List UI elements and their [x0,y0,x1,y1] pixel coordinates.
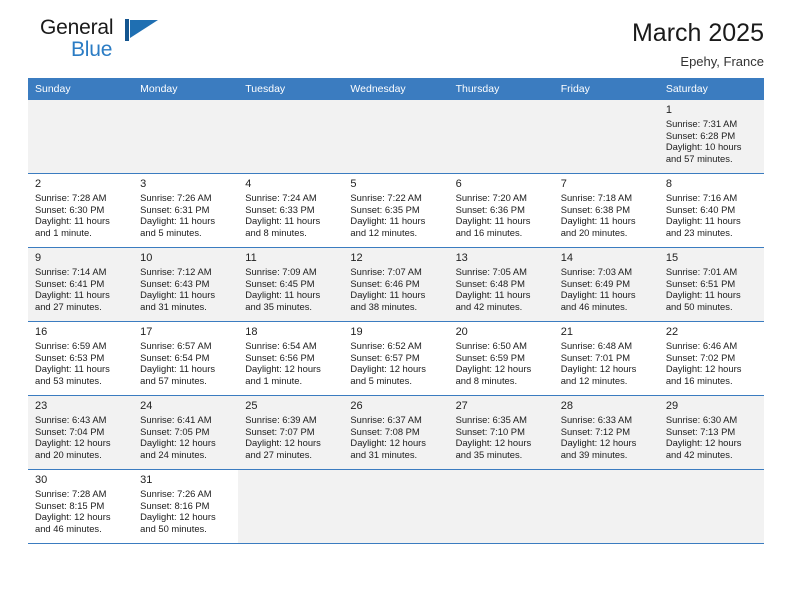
calendar-cell-empty [554,470,659,543]
calendar-day-cell[interactable]: 7Sunrise: 7:18 AMSunset: 6:38 PMDaylight… [554,174,659,247]
calendar-cell-empty [343,470,448,543]
calendar-cell-empty [238,100,343,173]
calendar-day-cell[interactable]: 24Sunrise: 6:41 AMSunset: 7:05 PMDayligh… [133,396,238,469]
sunset-text: Sunset: 8:16 PM [140,500,232,512]
weekday-header-monday: Monday [133,78,238,100]
daylight-text-line1: Daylight: 11 hours [245,215,337,227]
day-number: 3 [140,177,232,191]
weekday-header-wednesday: Wednesday [343,78,448,100]
daylight-text-line2: and 53 minutes. [35,375,127,387]
daylight-text-line1: Daylight: 12 hours [666,363,758,375]
calendar-cell-empty [343,100,448,173]
sunset-text: Sunset: 7:02 PM [666,352,758,364]
sunset-text: Sunset: 6:30 PM [35,204,127,216]
sunrise-text: Sunrise: 6:30 AM [666,414,758,426]
daylight-text-line1: Daylight: 11 hours [35,289,127,301]
sunrise-text: Sunrise: 7:05 AM [456,266,548,278]
weekday-header-tuesday: Tuesday [238,78,343,100]
calendar-week-row: 16Sunrise: 6:59 AMSunset: 6:53 PMDayligh… [28,322,764,396]
daylight-text-line2: and 1 minute. [245,375,337,387]
day-number: 14 [561,251,653,265]
sunrise-text: Sunrise: 6:50 AM [456,340,548,352]
day-number: 22 [666,325,758,339]
calendar-cell-empty [449,470,554,543]
sunset-text: Sunset: 6:49 PM [561,278,653,290]
calendar-week-row: 2Sunrise: 7:28 AMSunset: 6:30 PMDaylight… [28,174,764,248]
daylight-text-line2: and 16 minutes. [666,375,758,387]
sunrise-text: Sunrise: 6:52 AM [350,340,442,352]
daylight-text-line2: and 24 minutes. [140,449,232,461]
day-number: 27 [456,399,548,413]
daylight-text-line2: and 35 minutes. [245,301,337,313]
sunset-text: Sunset: 6:35 PM [350,204,442,216]
sunset-text: Sunset: 6:46 PM [350,278,442,290]
page-title: March 2025 [632,18,764,48]
sunset-text: Sunset: 6:38 PM [561,204,653,216]
sunrise-text: Sunrise: 7:14 AM [35,266,127,278]
sunset-text: Sunset: 6:33 PM [245,204,337,216]
sunset-text: Sunset: 7:12 PM [561,426,653,438]
daylight-text-line1: Daylight: 11 hours [35,215,127,227]
daylight-text-line1: Daylight: 12 hours [350,437,442,449]
day-number: 13 [456,251,548,265]
day-number: 4 [245,177,337,191]
daylight-text-line2: and 8 minutes. [456,375,548,387]
daylight-text-line1: Daylight: 11 hours [245,289,337,301]
calendar-week-row: 30Sunrise: 7:28 AMSunset: 8:15 PMDayligh… [28,470,764,544]
daylight-text-line2: and 5 minutes. [350,375,442,387]
day-number: 28 [561,399,653,413]
daylight-text-line1: Daylight: 11 hours [140,215,232,227]
calendar-body: 1Sunrise: 7:31 AMSunset: 6:28 PMDaylight… [28,100,764,544]
calendar-day-cell[interactable]: 30Sunrise: 7:28 AMSunset: 8:15 PMDayligh… [28,470,133,543]
sunrise-text: Sunrise: 7:16 AM [666,192,758,204]
location-subtitle: Epehy, France [632,52,764,72]
sunrise-text: Sunrise: 6:54 AM [245,340,337,352]
calendar-cell-empty [238,470,343,543]
daylight-text-line1: Daylight: 11 hours [456,215,548,227]
sunrise-text: Sunrise: 6:43 AM [35,414,127,426]
sunrise-text: Sunrise: 7:31 AM [666,118,758,130]
day-number: 19 [350,325,442,339]
daylight-text-line2: and 42 minutes. [666,449,758,461]
calendar-day-cell[interactable]: 9Sunrise: 7:14 AMSunset: 6:41 PMDaylight… [28,248,133,321]
daylight-text-line1: Daylight: 11 hours [561,215,653,227]
sunset-text: Sunset: 6:41 PM [35,278,127,290]
calendar-day-cell[interactable]: 2Sunrise: 7:28 AMSunset: 6:30 PMDaylight… [28,174,133,247]
sunrise-text: Sunrise: 6:57 AM [140,340,232,352]
calendar-day-cell[interactable]: 4Sunrise: 7:24 AMSunset: 6:33 PMDaylight… [238,174,343,247]
calendar-day-cell[interactable]: 27Sunrise: 6:35 AMSunset: 7:10 PMDayligh… [449,396,554,469]
calendar-day-cell[interactable]: 16Sunrise: 6:59 AMSunset: 6:53 PMDayligh… [28,322,133,395]
daylight-text-line2: and 27 minutes. [245,449,337,461]
sunrise-text: Sunrise: 6:48 AM [561,340,653,352]
weekday-header-saturday: Saturday [659,78,764,100]
calendar-week-row: 23Sunrise: 6:43 AMSunset: 7:04 PMDayligh… [28,396,764,470]
sunset-text: Sunset: 6:53 PM [35,352,127,364]
title-block: March 2025 Epehy, France [632,16,764,72]
sunrise-text: Sunrise: 7:07 AM [350,266,442,278]
daylight-text-line2: and 50 minutes. [140,523,232,535]
daylight-text-line2: and 12 minutes. [561,375,653,387]
day-number: 23 [35,399,127,413]
calendar-day-cell[interactable]: 26Sunrise: 6:37 AMSunset: 7:08 PMDayligh… [343,396,448,469]
calendar-cell-empty [133,100,238,173]
day-number: 6 [456,177,548,191]
sunset-text: Sunset: 7:07 PM [245,426,337,438]
day-number: 29 [666,399,758,413]
day-number: 15 [666,251,758,265]
sunset-text: Sunset: 6:31 PM [140,204,232,216]
sunrise-text: Sunrise: 7:20 AM [456,192,548,204]
daylight-text-line2: and 12 minutes. [350,227,442,239]
daylight-text-line2: and 1 minute. [35,227,127,239]
daylight-text-line2: and 31 minutes. [140,301,232,313]
sunrise-text: Sunrise: 6:59 AM [35,340,127,352]
sunrise-text: Sunrise: 6:46 AM [666,340,758,352]
sunset-text: Sunset: 8:15 PM [35,500,127,512]
calendar-cell-empty [449,100,554,173]
sunrise-text: Sunrise: 7:26 AM [140,192,232,204]
weekday-header-sunday: Sunday [28,78,133,100]
daylight-text-line1: Daylight: 11 hours [350,215,442,227]
calendar-day-cell[interactable]: 12Sunrise: 7:07 AMSunset: 6:46 PMDayligh… [343,248,448,321]
brand-name-bottom: Blue [40,39,198,61]
daylight-text-line1: Daylight: 11 hours [140,289,232,301]
calendar-page: General Blue March 2025 Epehy, France Su… [0,0,792,612]
day-number: 10 [140,251,232,265]
sunrise-text: Sunrise: 7:28 AM [35,192,127,204]
sunset-text: Sunset: 6:40 PM [666,204,758,216]
calendar-day-cell[interactable]: 13Sunrise: 7:05 AMSunset: 6:48 PMDayligh… [449,248,554,321]
weekday-header-row: Sunday Monday Tuesday Wednesday Thursday… [28,78,764,100]
brand-name-top: General [40,16,198,39]
day-number: 17 [140,325,232,339]
calendar-day-cell[interactable]: 15Sunrise: 7:01 AMSunset: 6:51 PMDayligh… [659,248,764,321]
calendar-day-cell[interactable]: 5Sunrise: 7:22 AMSunset: 6:35 PMDaylight… [343,174,448,247]
sunset-text: Sunset: 7:05 PM [140,426,232,438]
sunrise-text: Sunrise: 7:18 AM [561,192,653,204]
calendar-day-cell[interactable]: 14Sunrise: 7:03 AMSunset: 6:49 PMDayligh… [554,248,659,321]
daylight-text-line1: Daylight: 12 hours [666,437,758,449]
day-number: 12 [350,251,442,265]
day-number: 31 [140,473,232,487]
sunset-text: Sunset: 7:01 PM [561,352,653,364]
daylight-text-line2: and 35 minutes. [456,449,548,461]
calendar-day-cell[interactable]: 25Sunrise: 6:39 AMSunset: 7:07 PMDayligh… [238,396,343,469]
daylight-text-line1: Daylight: 12 hours [456,437,548,449]
sunset-text: Sunset: 6:59 PM [456,352,548,364]
daylight-text-line2: and 8 minutes. [245,227,337,239]
sunset-text: Sunset: 7:13 PM [666,426,758,438]
daylight-text-line2: and 46 minutes. [561,301,653,313]
daylight-text-line2: and 57 minutes. [140,375,232,387]
calendar-day-cell[interactable]: 8Sunrise: 7:16 AMSunset: 6:40 PMDaylight… [659,174,764,247]
calendar-week-row: 1Sunrise: 7:31 AMSunset: 6:28 PMDaylight… [28,100,764,174]
day-number: 11 [245,251,337,265]
sunset-text: Sunset: 6:36 PM [456,204,548,216]
sunset-text: Sunset: 6:51 PM [666,278,758,290]
daylight-text-line1: Daylight: 12 hours [561,363,653,375]
daylight-text-line2: and 16 minutes. [456,227,548,239]
calendar-day-cell[interactable]: 19Sunrise: 6:52 AMSunset: 6:57 PMDayligh… [343,322,448,395]
day-number: 24 [140,399,232,413]
sunset-text: Sunset: 6:45 PM [245,278,337,290]
daylight-text-line1: Daylight: 12 hours [350,363,442,375]
page-header: General Blue March 2025 Epehy, France [28,0,764,78]
day-number: 26 [350,399,442,413]
calendar-day-cell[interactable]: 29Sunrise: 6:30 AMSunset: 7:13 PMDayligh… [659,396,764,469]
sunrise-text: Sunrise: 7:09 AM [245,266,337,278]
day-number: 2 [35,177,127,191]
daylight-text-line2: and 57 minutes. [666,153,758,165]
weekday-header-thursday: Thursday [449,78,554,100]
daylight-text-line2: and 20 minutes. [35,449,127,461]
sunrise-text: Sunrise: 6:35 AM [456,414,548,426]
sunrise-text: Sunrise: 6:37 AM [350,414,442,426]
day-number: 16 [35,325,127,339]
daylight-text-line2: and 20 minutes. [561,227,653,239]
calendar-day-cell[interactable]: 17Sunrise: 6:57 AMSunset: 6:54 PMDayligh… [133,322,238,395]
daylight-text-line2: and 42 minutes. [456,301,548,313]
daylight-text-line1: Daylight: 11 hours [666,289,758,301]
day-number: 1 [666,103,758,117]
daylight-text-line1: Daylight: 12 hours [35,437,127,449]
sunrise-text: Sunrise: 7:01 AM [666,266,758,278]
calendar-day-cell[interactable]: 1Sunrise: 7:31 AMSunset: 6:28 PMDaylight… [659,100,764,173]
calendar-day-cell[interactable]: 10Sunrise: 7:12 AMSunset: 6:43 PMDayligh… [133,248,238,321]
daylight-text-line1: Daylight: 11 hours [456,289,548,301]
sunset-text: Sunset: 6:57 PM [350,352,442,364]
day-number: 5 [350,177,442,191]
sunrise-text: Sunrise: 7:22 AM [350,192,442,204]
daylight-text-line1: Daylight: 12 hours [140,511,232,523]
daylight-text-line2: and 31 minutes. [350,449,442,461]
daylight-text-line1: Daylight: 11 hours [350,289,442,301]
calendar-day-cell[interactable]: 21Sunrise: 6:48 AMSunset: 7:01 PMDayligh… [554,322,659,395]
daylight-text-line2: and 38 minutes. [350,301,442,313]
daylight-text-line2: and 46 minutes. [35,523,127,535]
sunrise-text: Sunrise: 7:26 AM [140,488,232,500]
sunrise-text: Sunrise: 6:41 AM [140,414,232,426]
daylight-text-line1: Daylight: 12 hours [245,437,337,449]
sunrise-text: Sunrise: 6:33 AM [561,414,653,426]
calendar-day-cell[interactable]: 11Sunrise: 7:09 AMSunset: 6:45 PMDayligh… [238,248,343,321]
daylight-text-line1: Daylight: 12 hours [35,511,127,523]
sunrise-text: Sunrise: 7:28 AM [35,488,127,500]
day-number: 8 [666,177,758,191]
daylight-text-line2: and 27 minutes. [35,301,127,313]
daylight-text-line2: and 39 minutes. [561,449,653,461]
calendar-cell-empty [554,100,659,173]
sunset-text: Sunset: 6:43 PM [140,278,232,290]
calendar-cell-empty [659,470,764,543]
daylight-text-line2: and 50 minutes. [666,301,758,313]
calendar-day-cell[interactable]: 3Sunrise: 7:26 AMSunset: 6:31 PMDaylight… [133,174,238,247]
day-number: 9 [35,251,127,265]
calendar-table: Sunday Monday Tuesday Wednesday Thursday… [28,78,764,544]
daylight-text-line1: Daylight: 11 hours [561,289,653,301]
blue-triangle-flag-icon [125,19,159,41]
daylight-text-line1: Daylight: 12 hours [245,363,337,375]
weekday-header-friday: Friday [554,78,659,100]
sunset-text: Sunset: 6:48 PM [456,278,548,290]
sunset-text: Sunset: 6:56 PM [245,352,337,364]
calendar-week-row: 9Sunrise: 7:14 AMSunset: 6:41 PMDaylight… [28,248,764,322]
daylight-text-line2: and 23 minutes. [666,227,758,239]
calendar-day-cell[interactable]: 18Sunrise: 6:54 AMSunset: 6:56 PMDayligh… [238,322,343,395]
day-number: 25 [245,399,337,413]
day-number: 20 [456,325,548,339]
calendar-day-cell[interactable]: 31Sunrise: 7:26 AMSunset: 8:16 PMDayligh… [133,470,238,543]
sunrise-text: Sunrise: 7:03 AM [561,266,653,278]
day-number: 7 [561,177,653,191]
sunrise-text: Sunrise: 7:12 AM [140,266,232,278]
day-number: 30 [35,473,127,487]
sunset-text: Sunset: 7:10 PM [456,426,548,438]
calendar-day-cell[interactable]: 23Sunrise: 6:43 AMSunset: 7:04 PMDayligh… [28,396,133,469]
calendar-day-cell[interactable]: 6Sunrise: 7:20 AMSunset: 6:36 PMDaylight… [449,174,554,247]
daylight-text-line1: Daylight: 12 hours [561,437,653,449]
calendar-day-cell[interactable]: 22Sunrise: 6:46 AMSunset: 7:02 PMDayligh… [659,322,764,395]
daylight-text-line2: and 5 minutes. [140,227,232,239]
brand-logo[interactable]: General Blue [28,16,198,70]
calendar-day-cell[interactable]: 20Sunrise: 6:50 AMSunset: 6:59 PMDayligh… [449,322,554,395]
sunset-text: Sunset: 6:28 PM [666,130,758,142]
calendar-cell-empty [28,100,133,173]
daylight-text-line1: Daylight: 11 hours [140,363,232,375]
daylight-text-line1: Daylight: 12 hours [140,437,232,449]
sunset-text: Sunset: 6:54 PM [140,352,232,364]
daylight-text-line1: Daylight: 11 hours [666,215,758,227]
sunset-text: Sunset: 7:08 PM [350,426,442,438]
sunrise-text: Sunrise: 6:39 AM [245,414,337,426]
sunrise-text: Sunrise: 7:24 AM [245,192,337,204]
sunset-text: Sunset: 7:04 PM [35,426,127,438]
day-number: 21 [561,325,653,339]
day-number: 18 [245,325,337,339]
daylight-text-line1: Daylight: 10 hours [666,141,758,153]
daylight-text-line1: Daylight: 11 hours [35,363,127,375]
daylight-text-line1: Daylight: 12 hours [456,363,548,375]
calendar-day-cell[interactable]: 28Sunrise: 6:33 AMSunset: 7:12 PMDayligh… [554,396,659,469]
